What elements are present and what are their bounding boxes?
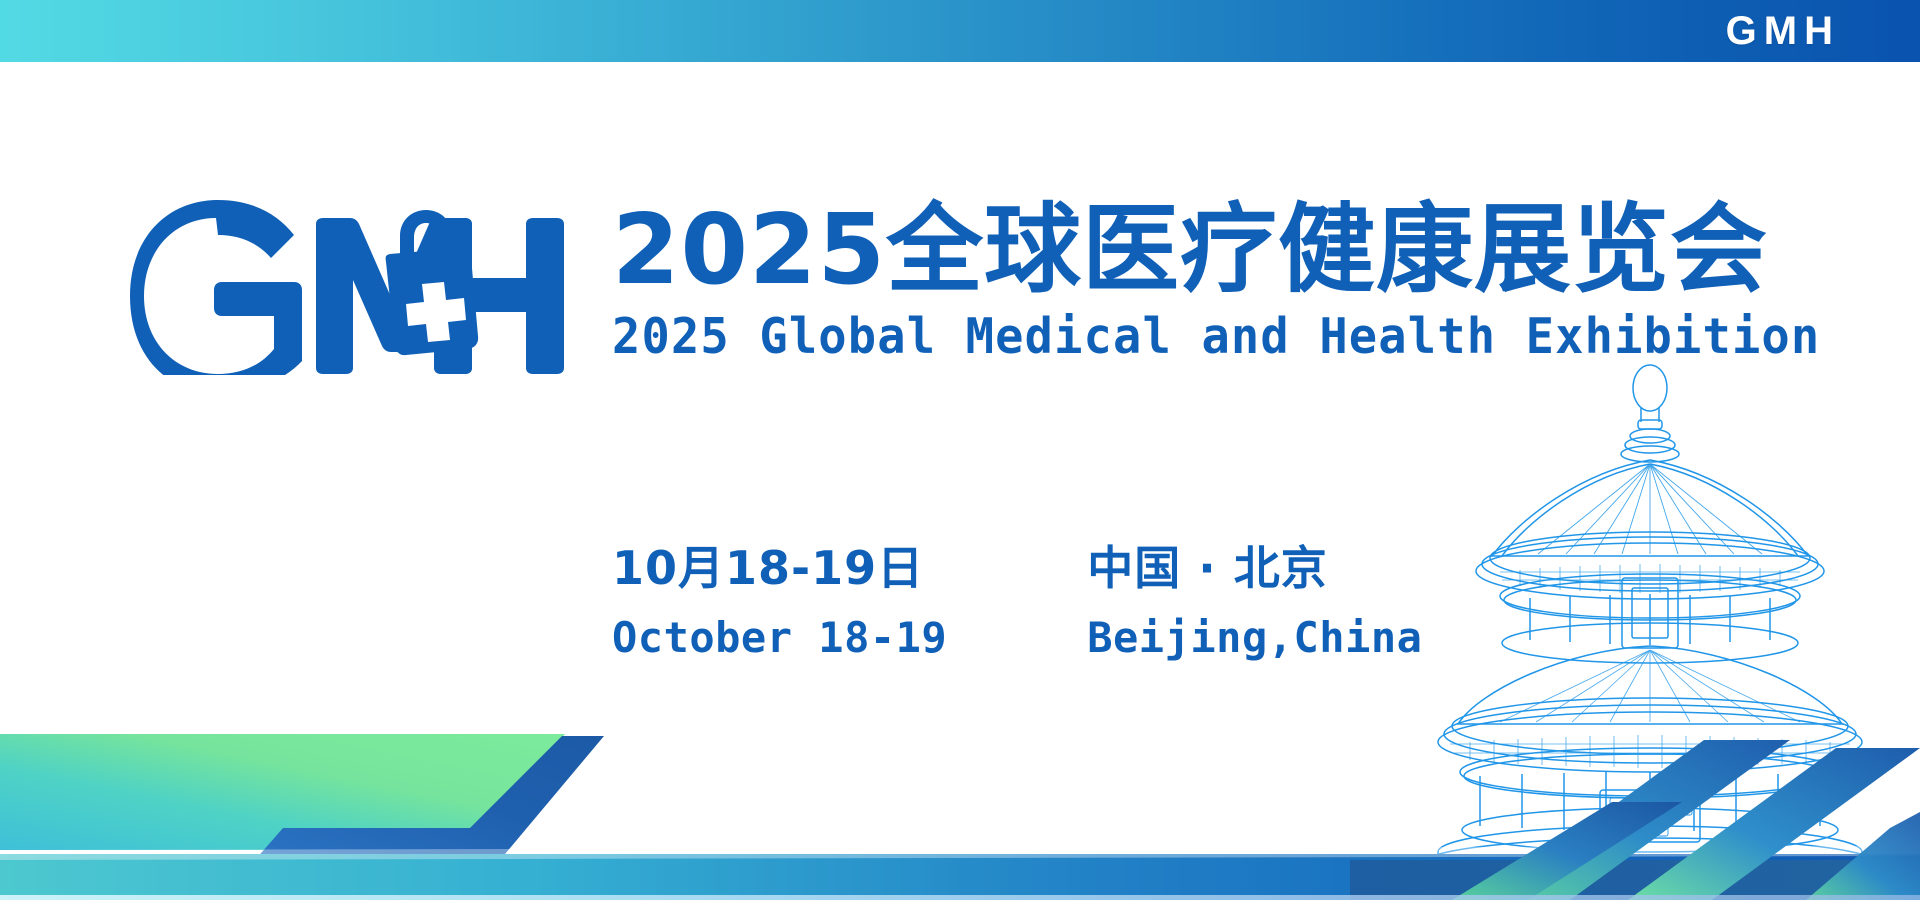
event-date-column: 10月18-19日 October 18-19 bbox=[612, 545, 947, 659]
headline-english: 2025 Global Medical and Health Exhibitio… bbox=[612, 308, 1793, 365]
event-date-english: October 18-19 bbox=[612, 617, 947, 659]
topbar-brand-text: GMH bbox=[1726, 0, 1840, 62]
headline-block: 2025全球医疗健康展览会 2025 Global Medical and He… bbox=[612, 200, 1842, 365]
gmh-logo bbox=[128, 200, 568, 375]
top-bar-glow-edge bbox=[0, 895, 1920, 900]
event-location-column: 中国 · 北京 Beijing,China bbox=[1087, 545, 1422, 659]
event-info-block: 10月18-19日 October 18-19 中国 · 北京 Beijing,… bbox=[612, 545, 1422, 659]
temple-of-heaven-illustration bbox=[1370, 360, 1920, 900]
promotional-banner: GMH 2025全球医疗健康展览会 2025 Global Medical an… bbox=[0, 0, 1920, 900]
ribbon-green-slab bbox=[0, 734, 565, 850]
top-gradient-bar bbox=[0, 0, 1920, 62]
event-location-english: Beijing,China bbox=[1087, 617, 1422, 659]
event-date-chinese: 10月18-19日 bbox=[612, 545, 947, 591]
headline-chinese: 2025全球医疗健康展览会 bbox=[612, 200, 1842, 300]
event-location-chinese: 中国 · 北京 bbox=[1087, 545, 1422, 591]
ribbon-chevron-accent bbox=[255, 736, 604, 860]
